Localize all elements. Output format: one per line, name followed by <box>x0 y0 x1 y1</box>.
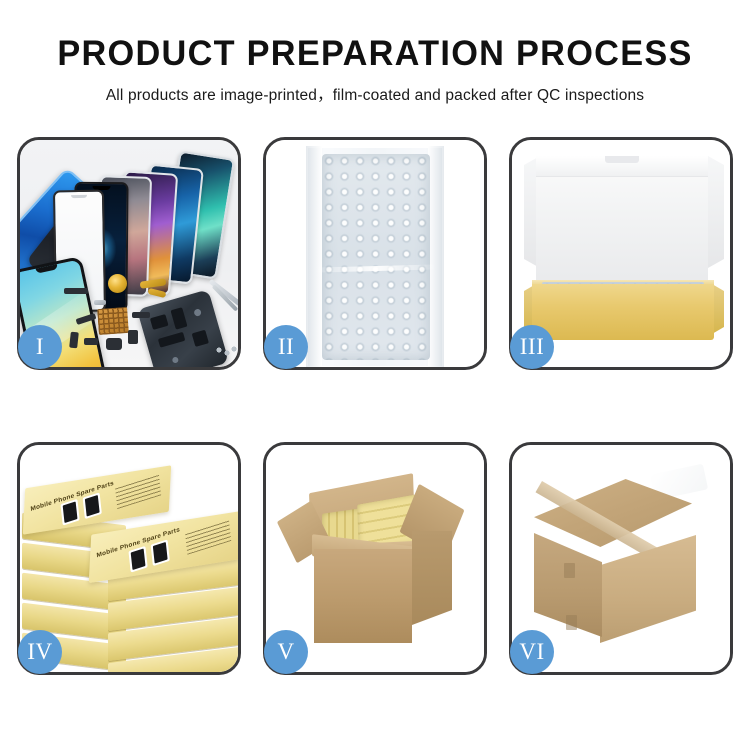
retail-box-window-icon <box>60 499 79 526</box>
inner-box-lid-icon <box>536 156 708 286</box>
inner-box-lid-flap-right-icon <box>708 156 724 268</box>
earpiece-part-icon <box>64 288 88 294</box>
step-badge-4: IV <box>18 630 62 674</box>
page-header: PRODUCT PREPARATION PROCESS All products… <box>0 0 750 105</box>
retail-box-spec-lines-icon <box>185 520 231 555</box>
screws-icon <box>216 346 238 358</box>
carton-handle-notch-icon <box>566 615 577 630</box>
process-step-panel-1[interactable]: I <box>17 137 241 370</box>
carton-handle-notch-icon <box>564 563 575 578</box>
step-badge-5: V <box>264 630 308 674</box>
carton-front-icon <box>314 549 412 643</box>
bubble-edge-right-icon <box>428 146 444 367</box>
camera-module-part-icon <box>128 330 138 344</box>
page-subtitle: All products are image-printed，film-coat… <box>0 83 750 105</box>
page-title: PRODUCT PREPARATION PROCESS <box>8 34 743 74</box>
grille-mesh-part-icon <box>97 307 129 335</box>
taptic-part-icon <box>106 338 122 350</box>
speaker-part-icon <box>84 338 98 345</box>
process-step-panel-6[interactable]: VI <box>509 442 733 675</box>
sim-tray-part-icon <box>69 332 79 349</box>
process-step-panel-4[interactable]: Mobile Phone Spare Parts Mobile Phone Sp… <box>17 442 241 675</box>
retail-box-spec-lines-icon <box>115 474 161 509</box>
bubble-edge-left-icon <box>306 146 322 367</box>
process-step-panel-5[interactable]: V <box>263 442 487 675</box>
step-badge-3: III <box>510 325 554 369</box>
wireless-coil-part-icon <box>108 274 127 293</box>
carton-side-icon <box>412 531 452 625</box>
process-step-grid: I II III <box>0 137 750 675</box>
process-step-panel-3[interactable]: III <box>509 137 733 370</box>
process-step-panel-2[interactable]: II <box>263 137 487 370</box>
step-badge-6: VI <box>510 630 554 674</box>
retail-box-window-icon <box>128 546 147 573</box>
inner-box-body-icon <box>532 284 714 340</box>
retail-box-window-icon <box>151 539 170 566</box>
step-badge-1: I <box>18 325 62 369</box>
retail-box-window-icon <box>83 492 102 519</box>
step-badge-2: II <box>264 325 308 369</box>
bubble-wrap-pouch-icon <box>322 154 430 360</box>
bracket-part-icon <box>94 300 106 305</box>
connector-part-icon <box>132 312 150 318</box>
